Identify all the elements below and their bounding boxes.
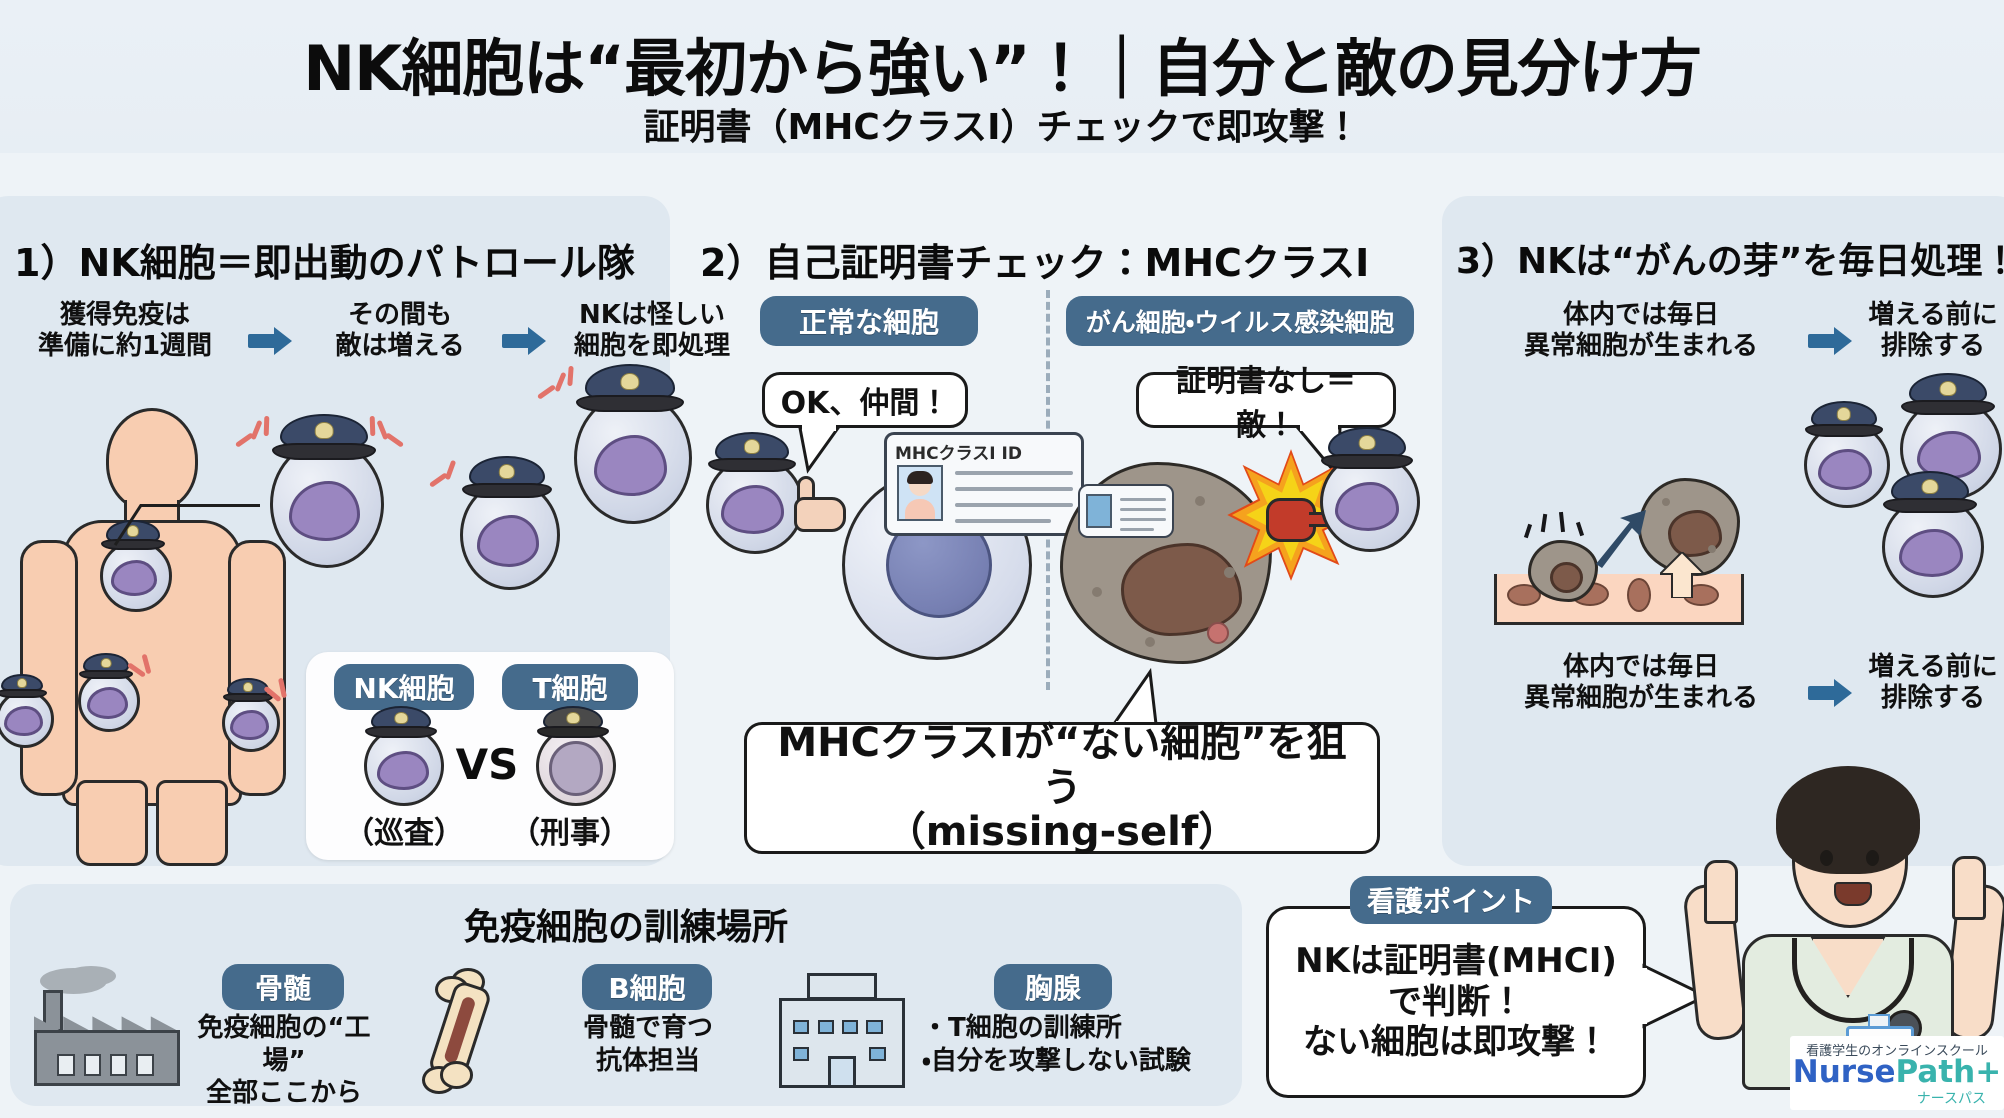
nk-cell-inspecting: [706, 456, 798, 548]
spark-icon: [236, 416, 270, 452]
panel-4-badge-thymus: 胸腺: [994, 964, 1112, 1010]
panel-2-heading: 2）自己証明書チェック：MHCクラスI: [700, 232, 1369, 287]
compare-label-nk: NK細胞: [334, 664, 474, 710]
abnormal-cell-small: [1528, 540, 1598, 602]
nurse-character: かず: [1700, 752, 1990, 1082]
vs-label: VS: [452, 740, 522, 789]
hospital-icon: [774, 966, 910, 1088]
spark-icon: [132, 652, 158, 678]
nursing-point-line-1: NKは証明書(MHCI): [1295, 941, 1617, 982]
panel-4-text-bone-marrow: 免疫細胞の“工場” 全部ここから: [186, 1012, 382, 1110]
broken-mhc-id-card: [1078, 484, 1174, 538]
panel-1-flow-step-1: 獲得免疫は 準備に約1週間: [10, 300, 240, 362]
logo-brand-part-b: Path+: [1896, 1054, 2002, 1090]
panel-2-conclusion: MHCクラスIが“ない細胞”を狙う （missing-self）: [744, 722, 1380, 854]
logo-brand-part-a: Nurse: [1793, 1054, 1896, 1090]
nk-cell-attacking: [1320, 452, 1414, 546]
upward-arrow-icon: [1660, 552, 1704, 598]
pointing-finger-left: [1704, 860, 1738, 924]
nursing-point-bubble: NKは証明書(MHCI) で判断！ ない細胞は即攻撃！: [1266, 906, 1646, 1098]
spark-icon: [368, 416, 402, 452]
nk-cell-patrol-1: [1804, 422, 1884, 502]
compare-caption-t: （刑事）: [500, 808, 640, 852]
panel-4-text-thymus: ・T細胞の訓練所 ・自分を攻撃しない試験: [922, 1012, 1242, 1077]
nk-cell-patrol-3: [1882, 496, 1978, 592]
panel-4-badge-bone-marrow: 骨髄: [222, 964, 344, 1010]
conclusion-bubble-tail: [1080, 668, 1160, 726]
nk-cell-body-abdomen: [78, 670, 134, 726]
nursing-point-line-2: で判断！: [1388, 982, 1524, 1023]
nk-cell-free-1: [270, 440, 378, 562]
id-photo: [897, 465, 943, 521]
conclusion-line-2: （missing-self）: [886, 810, 1238, 855]
leader-line: [140, 504, 260, 507]
panel-1-flow-step-2: その間も 敵は増える: [300, 300, 500, 362]
panel-1-heading: 1）NK細胞＝即出動のパトロール隊: [14, 232, 635, 287]
factory-icon: [34, 986, 180, 1086]
panel-2-normal-badge: 正常な細胞: [760, 296, 978, 346]
spark-icon: [268, 678, 292, 702]
logo-sub: ナースパス: [1790, 1088, 2004, 1108]
human-body-illustration: [10, 400, 310, 860]
logo-brand: NursePath+: [1790, 1054, 2004, 1090]
mhc-id-card-title: MHCクラスI ID: [895, 439, 1022, 464]
spark-icon: [430, 458, 460, 490]
nk-cell-free-3: [574, 392, 686, 518]
compare-caption-nk: （巡査）: [334, 808, 474, 852]
conclusion-line-1: MHCクラスIが“ない細胞”を狙う: [759, 721, 1365, 811]
panel-3-flow-bottom-right: 増える前に 排除する: [1848, 652, 2004, 714]
nk-cell-body-right-arm: [222, 694, 274, 746]
panel-2-normal-bubble: OK、仲間！: [762, 372, 968, 428]
mhc-id-card: MHCクラスI ID: [884, 432, 1084, 536]
pointing-finger-right: [1952, 856, 1986, 920]
bone-icon: [404, 968, 516, 1094]
nk-cell-body-left-arm: [0, 690, 48, 742]
infographic-canvas: NK細胞は“最初から強い”！｜自分と敵の見分け方 証明書（MHCクラスI）チェッ…: [0, 0, 2004, 1118]
nursepath-logo: 看護学生のオンラインスクール NursePath+ ナースパス: [1790, 1036, 2004, 1110]
panel-4-badge-b-cell: B細胞: [582, 964, 712, 1010]
header-band: NK細胞は“最初から強い”！｜自分と敵の見分け方 証明書（MHCクラスI）チェッ…: [0, 0, 2004, 153]
id-photo-blank: [1086, 494, 1112, 528]
nursing-point-badge: 看護ポイント: [1350, 876, 1552, 924]
punch-fist-icon: [1266, 498, 1316, 542]
spark-icon: [538, 366, 574, 404]
page-subtitle: 証明書（MHCクラスI）チェックで即攻撃！: [0, 98, 2004, 150]
thumbs-up-icon: [794, 476, 846, 532]
panel-4-title: 免疫細胞の訓練場所: [10, 898, 1242, 950]
panel-2-abnormal-bubble: 証明書なし＝敵！: [1136, 372, 1396, 428]
panel-2-abnormal-badge: がん細胞・ウイルス感染細胞: [1066, 296, 1414, 346]
nursing-point-line-3: ない細胞は即攻撃！: [1303, 1022, 1609, 1063]
panel-3-heading: 3）NKは“がんの芽”を毎日処理！: [1456, 232, 2004, 284]
bubble-tail-normal: [790, 424, 850, 474]
nk-cell-free-2: [460, 480, 554, 584]
panel-4-text-b-cell: 骨髄で育つ 抗体担当: [572, 1012, 724, 1077]
emergence-arrow-icon: [1590, 508, 1652, 570]
nk-cell-compare: [364, 726, 438, 800]
panel-3-flow-bottom-left: 体内では毎日 異常細胞が生まれる: [1476, 652, 1806, 714]
zig-lines-icon: [1520, 510, 1590, 544]
panel-3-flow-top-left: 体内では毎日 異常細胞が生まれる: [1476, 300, 1806, 362]
panel-3-flow-top-right: 増える前に 排除する: [1848, 300, 2004, 362]
arrow-icon-1: [248, 326, 294, 356]
nk-cell-body-chest: [100, 540, 166, 606]
page-title: NK細胞は“最初から強い”！｜自分と敵の見分け方: [0, 18, 2004, 108]
compare-label-t: T細胞: [502, 664, 638, 710]
t-cell-compare: [536, 726, 610, 800]
arrow-icon-2: [502, 326, 548, 356]
